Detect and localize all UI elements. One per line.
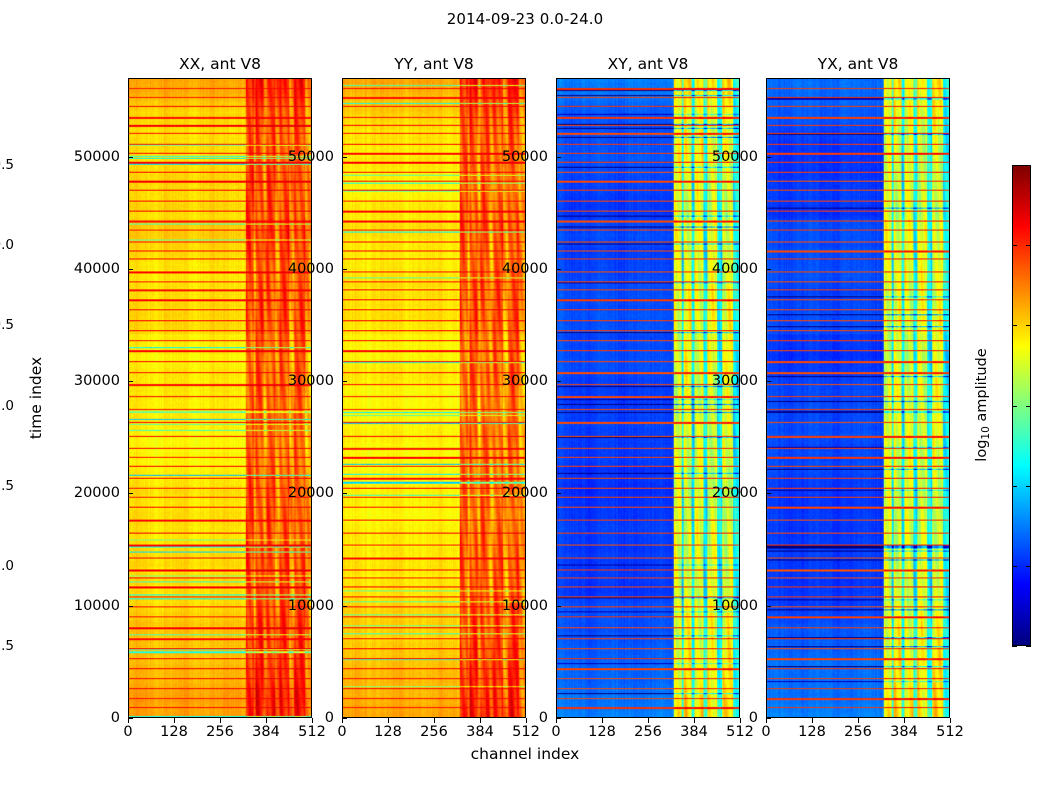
colorbar-tick-label: −0.5 (0, 317, 14, 333)
colorbar-tick-mark (1012, 325, 1017, 326)
y-tick-mark (342, 157, 347, 158)
colorbar-tick-mark (1012, 646, 1017, 647)
x-tick-mark (648, 718, 649, 723)
colorbar-tick-label: 0.0 (0, 237, 14, 253)
y-tick-label: 50000 (478, 149, 548, 165)
y-tick-mark (342, 381, 347, 382)
y-tick-label: 30000 (50, 373, 120, 389)
x-tick-label: 512 (936, 724, 964, 740)
x-tick-mark (388, 718, 389, 723)
y-tick-label: 10000 (264, 598, 334, 614)
colorbar-tick-mark (1012, 486, 1017, 487)
heatmap-image-yx (767, 79, 949, 717)
heatmap-panel-yx[interactable] (766, 78, 950, 718)
figure-canvas: 2014-09-23 0.0-24.0 XX, ant V8 YY, ant V… (0, 0, 1050, 800)
x-tick-mark (602, 718, 603, 723)
panel-title-xx: XX, ant V8 (128, 55, 312, 75)
x-tick-mark (128, 718, 129, 723)
x-tick-mark (342, 718, 343, 723)
x-tick-mark (556, 718, 557, 723)
y-tick-label: 40000 (688, 261, 758, 277)
heatmap-image-yy (343, 79, 525, 717)
x-tick-mark (858, 718, 859, 723)
x-tick-mark (950, 718, 951, 723)
colorbar-label-tail: amplitude (974, 348, 990, 426)
y-tick-label: 0 (50, 710, 120, 726)
x-axis-label: channel index (0, 745, 1050, 763)
y-tick-label: 20000 (478, 485, 548, 501)
y-tick-mark (128, 269, 133, 270)
heatmap-panel-xy[interactable] (556, 78, 740, 718)
y-tick-mark (556, 606, 561, 607)
y-tick-label: 40000 (50, 261, 120, 277)
x-tick-mark (174, 718, 175, 723)
colorbar-label-text: log (974, 440, 990, 462)
heatmap-panel-yy[interactable] (342, 78, 526, 718)
colorbar-tick-mark-right (1026, 566, 1031, 567)
x-tick-mark (812, 718, 813, 723)
y-tick-mark (128, 157, 133, 158)
x-tick-label: 384 (890, 724, 918, 740)
colorbar-tick-mark-right (1026, 325, 1031, 326)
y-tick-label: 50000 (264, 149, 334, 165)
panel-title-yx: YX, ant V8 (766, 55, 950, 75)
y-tick-mark (556, 381, 561, 382)
x-tick-label: 512 (512, 724, 540, 740)
colorbar-tick-mark (1012, 165, 1017, 166)
x-tick-label: 256 (206, 724, 234, 740)
colorbar-tick-label: −1.5 (0, 478, 14, 494)
x-tick-label: 128 (588, 724, 616, 740)
x-tick-label: 384 (680, 724, 708, 740)
y-tick-mark (128, 493, 133, 494)
y-tick-mark (766, 606, 771, 607)
colorbar-label: log10 amplitude (974, 348, 990, 461)
y-tick-label: 50000 (688, 149, 758, 165)
y-tick-label: 10000 (50, 598, 120, 614)
colorbar-tick-mark-right (1026, 406, 1031, 407)
y-tick-label: 20000 (688, 485, 758, 501)
x-tick-label: 256 (844, 724, 872, 740)
y-tick-mark (342, 269, 347, 270)
colorbar-tick-label: 0.5 (0, 157, 14, 173)
panel-title-yy: YY, ant V8 (342, 55, 526, 75)
colorbar-tick-mark (1012, 566, 1017, 567)
x-tick-label: 512 (298, 724, 326, 740)
y-tick-mark (556, 157, 561, 158)
x-tick-label: 256 (634, 724, 662, 740)
y-tick-mark (556, 269, 561, 270)
x-tick-mark (220, 718, 221, 723)
y-tick-mark (766, 381, 771, 382)
y-tick-label: 30000 (478, 373, 548, 389)
y-tick-label: 0 (688, 710, 758, 726)
x-tick-label: 128 (160, 724, 188, 740)
colorbar-tick-mark (1012, 406, 1017, 407)
colorbar-tick-mark (1012, 245, 1017, 246)
x-tick-mark (904, 718, 905, 723)
x-tick-mark (766, 718, 767, 723)
y-tick-label: 40000 (478, 261, 548, 277)
x-tick-label: 0 (551, 724, 560, 740)
x-tick-label: 0 (123, 724, 132, 740)
y-tick-mark (556, 493, 561, 494)
y-tick-mark (128, 606, 133, 607)
x-tick-label: 0 (337, 724, 346, 740)
colorbar-tick-mark-right (1026, 486, 1031, 487)
colorbar-tick-mark-right (1026, 646, 1031, 647)
y-tick-mark (342, 493, 347, 494)
y-tick-label: 10000 (688, 598, 758, 614)
y-tick-mark (766, 493, 771, 494)
y-axis-label: time index (27, 357, 45, 439)
colorbar-label-subscript: 10 (980, 426, 992, 439)
x-tick-label: 384 (466, 724, 494, 740)
colorbar-tick-label: −1.0 (0, 398, 14, 414)
y-tick-mark (766, 269, 771, 270)
y-tick-label: 0 (478, 710, 548, 726)
y-tick-label: 40000 (264, 261, 334, 277)
heatmap-image-xy (557, 79, 739, 717)
x-tick-label: 256 (420, 724, 448, 740)
colorbar-tick-label: −2.5 (0, 638, 14, 654)
x-tick-label: 128 (798, 724, 826, 740)
y-tick-label: 10000 (478, 598, 548, 614)
y-tick-label: 30000 (264, 373, 334, 389)
y-tick-label: 30000 (688, 373, 758, 389)
y-tick-mark (766, 157, 771, 158)
x-tick-label: 512 (726, 724, 754, 740)
colorbar-tick-mark-right (1026, 165, 1031, 166)
y-tick-label: 20000 (264, 485, 334, 501)
heatmap-panel-xx[interactable] (128, 78, 312, 718)
x-tick-label: 128 (374, 724, 402, 740)
colorbar-tick-label: −2.0 (0, 558, 14, 574)
figure-suptitle: 2014-09-23 0.0-24.0 (0, 10, 1050, 28)
panel-title-xy: XY, ant V8 (556, 55, 740, 75)
y-tick-label: 0 (264, 710, 334, 726)
x-tick-label: 384 (252, 724, 280, 740)
x-tick-mark (434, 718, 435, 723)
y-tick-mark (342, 606, 347, 607)
y-tick-label: 20000 (50, 485, 120, 501)
y-tick-label: 50000 (50, 149, 120, 165)
heatmap-image-xx (129, 79, 311, 717)
colorbar-tick-mark-right (1026, 245, 1031, 246)
x-tick-label: 0 (761, 724, 770, 740)
y-tick-mark (128, 381, 133, 382)
